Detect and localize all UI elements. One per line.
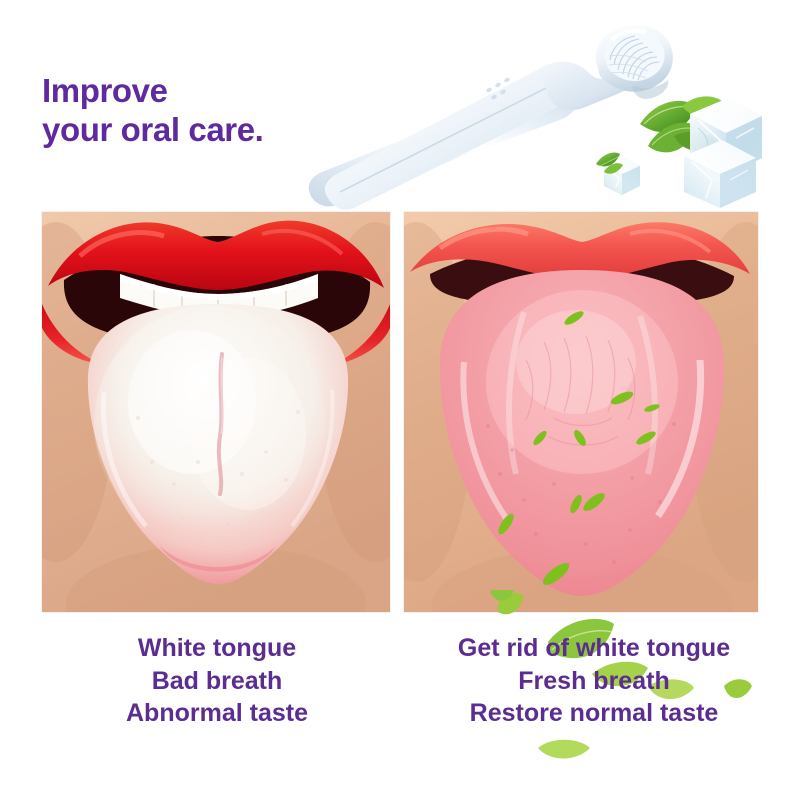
before-photo-white-tongue — [42, 212, 390, 612]
after-photo-healthy-tongue — [404, 212, 758, 612]
after-caption: Get rid of white tongue Fresh breath Res… — [394, 632, 794, 730]
page-title: Improve your oral care. — [42, 72, 263, 149]
promo-banner: Improve your oral care. — [0, 0, 800, 800]
product-image-tongue-scraper — [296, 16, 676, 216]
before-caption: White tongue Bad breath Abnormal taste — [22, 632, 412, 730]
mint-leaf-6 — [538, 740, 590, 759]
